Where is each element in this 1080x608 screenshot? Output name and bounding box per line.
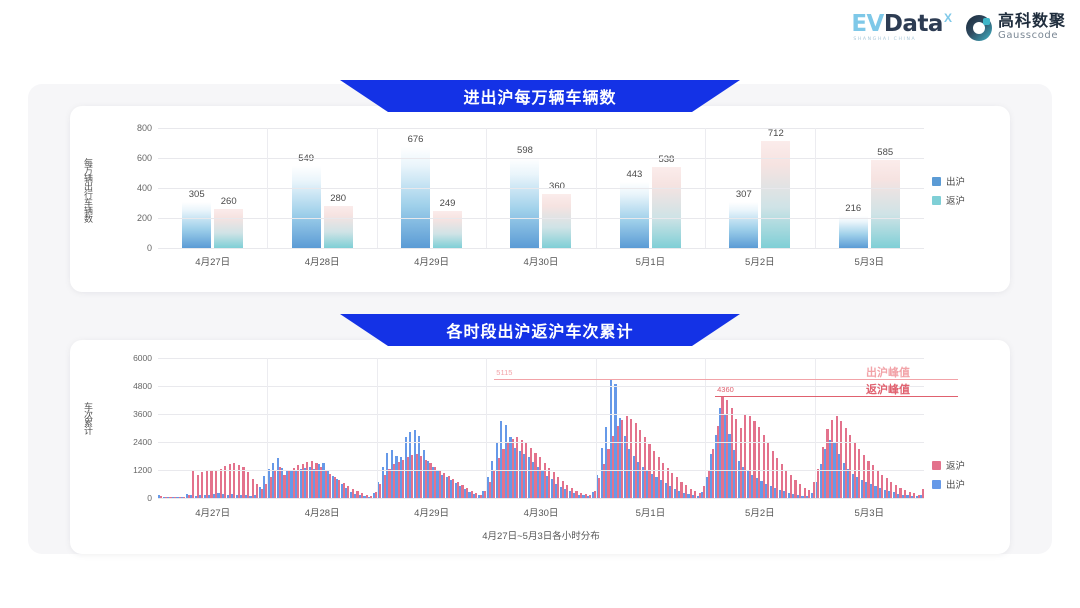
chart1-category-separator (486, 128, 487, 248)
evdata-logo-ev: EV (851, 13, 884, 36)
chart2-y-tick: 4800 (133, 381, 152, 391)
chart2-gridline: 0 (158, 498, 924, 499)
chart2-gridline: 1200 (158, 470, 924, 471)
chart1-category-separator (815, 128, 816, 248)
chart1-legend-item[interactable]: 出沪 (932, 174, 965, 188)
chart1-bar-out: 307 (729, 202, 758, 248)
chart2-x-tick: 5月2日 (745, 505, 775, 519)
logo-group: EV Data X SHANGHAI CHINA 高科数聚 Gausscode (851, 13, 1066, 43)
chart1-title-banner: 进出沪每万辆车辆数 (340, 80, 740, 112)
chart1-plot-area: 3052604月27日5492804月28日6762494月29日5983604… (158, 128, 924, 248)
chart1-x-tick: 4月27日 (158, 254, 267, 268)
chart1-category-separator (267, 128, 268, 248)
chart2-peak-reference-line: 5115出沪峰值 (494, 379, 958, 380)
chart2-y-tick: 3600 (133, 409, 152, 419)
chart1-category-separator (705, 128, 706, 248)
chart2-gridline: 3600 (158, 414, 924, 415)
chart1-legend-swatch (932, 177, 941, 186)
chart1-bar-value: 280 (330, 193, 346, 204)
chart1-bar-value: 307 (736, 189, 752, 200)
gausscode-logo-cn: 高科数聚 (998, 14, 1066, 31)
gausscode-mark-icon (966, 15, 992, 41)
gausscode-wordmark: 高科数聚 Gausscode (998, 14, 1066, 41)
chart1-bar-value: 216 (845, 203, 861, 214)
chart2-peak-label: 返沪峰值 (866, 381, 910, 397)
chart1-bar-back: 280 (324, 206, 353, 248)
chart2-y-tick: 1200 (133, 465, 152, 475)
chart1-bar-value: 598 (517, 145, 533, 156)
chart1-bar-out: 216 (839, 216, 868, 248)
chart2-legend-item[interactable]: 出沪 (932, 477, 965, 491)
chart1-category-separator (596, 128, 597, 248)
chart2-legend-swatch (932, 461, 941, 470)
chart1-bar-value: 676 (408, 134, 424, 145)
chart2-peak-value: 5115 (496, 368, 512, 377)
evdata-logo-subtitle: SHANGHAI CHINA (853, 38, 916, 43)
chart1-y-tick: 600 (137, 153, 152, 163)
chart1-x-tick: 5月3日 (815, 254, 924, 268)
chart2-legend: 返沪出沪 (932, 458, 965, 496)
chart1-gridline: 800 (158, 128, 924, 129)
chart1-bar-back: 360 (542, 194, 571, 248)
chart1-y-tick: 200 (137, 213, 152, 223)
chart2-y-tick: 2400 (133, 437, 152, 447)
chart1-x-tick: 4月30日 (486, 254, 595, 268)
chart2-y-tick: 6000 (133, 353, 152, 363)
chart2-x-tick: 5月1日 (636, 505, 666, 519)
daily-bar-chart: 每万辆出行车辆数 3052604月27日5492804月28日6762494月2… (70, 106, 1010, 292)
chart2-day-separator (267, 358, 268, 498)
chart1-legend-label: 返沪 (946, 193, 965, 207)
evdata-wordmark: EV Data X (851, 13, 952, 36)
chart1-x-tick: 4月28日 (267, 254, 376, 268)
chart1-bar-out: 676 (401, 147, 430, 248)
chart1-bar-back: 260 (214, 209, 243, 248)
chart2-x-tick: 4月28日 (305, 505, 340, 519)
chart1-bar-value: 538 (658, 154, 674, 165)
chart1-bar-out: 549 (292, 166, 321, 248)
evdata-logo: EV Data X SHANGHAI CHINA (851, 13, 952, 43)
chart1-bar-value: 249 (440, 198, 456, 209)
chart1-bar-back: 249 (433, 211, 462, 248)
chart2-legend-label: 返沪 (946, 458, 965, 472)
gausscode-logo: 高科数聚 Gausscode (966, 14, 1066, 41)
chart2-legend-swatch (932, 480, 941, 489)
chart1-bar-value: 305 (189, 189, 205, 200)
chart1-legend-item[interactable]: 返沪 (932, 193, 965, 207)
chart1-y-tick: 800 (137, 123, 152, 133)
chart2-legend-label: 出沪 (946, 477, 965, 491)
evdata-logo-data: Data (884, 13, 943, 36)
chart1-x-tick: 5月2日 (705, 254, 814, 268)
chart1-gridline: 200 (158, 218, 924, 219)
chart2-gridline: 2400 (158, 442, 924, 443)
chart2-y-tick: 0 (147, 493, 152, 503)
chart1-bar-out: 443 (620, 182, 649, 248)
chart2-y-axis-label: 车次累计 (82, 402, 95, 434)
gausscode-logo-en: Gausscode (998, 31, 1066, 42)
chart1-y-axis-label: 每万辆出行车辆数 (82, 158, 95, 222)
chart1-bar-value: 360 (549, 181, 565, 192)
chart1-gridline: 400 (158, 188, 924, 189)
chart1-bar-value: 712 (768, 128, 784, 139)
chart1-bar-value: 260 (221, 196, 237, 207)
chart2-legend-item[interactable]: 返沪 (932, 458, 965, 472)
chart2-title-banner: 各时段出沪返沪车次累计 (340, 314, 740, 346)
chart1-bar-value: 443 (626, 169, 642, 180)
evdata-logo-superscript: X (944, 12, 952, 24)
chart2-plot-area: 0120024003600480060004月27日4月28日4月29日4月30… (158, 358, 924, 498)
chart1-category-separator (377, 128, 378, 248)
hourly-bar-chart: 车次累计 0120024003600480060004月27日4月28日4月29… (70, 340, 1010, 554)
chart1-x-tick: 4月29日 (377, 254, 486, 268)
chart1-bar-back: 585 (871, 160, 900, 248)
chart2-peak-label: 出沪峰值 (866, 364, 910, 380)
chart1-y-tick: 0 (147, 243, 152, 253)
chart1-gridline: 600 (158, 158, 924, 159)
chart1-bar-out: 598 (510, 158, 539, 248)
chart2-gridline: 4800 (158, 386, 924, 387)
chart2-x-tick: 5月3日 (854, 505, 884, 519)
chart2-x-axis-caption: 4月27日~5月3日各小时分布 (158, 528, 924, 542)
chart1-x-tick: 5月1日 (596, 254, 705, 268)
page-header: EV Data X SHANGHAI CHINA 高科数聚 Gausscode (0, 0, 1080, 62)
chart2-peak-reference-line: 4360返沪峰值 (715, 396, 958, 397)
chart2-x-tick: 4月30日 (524, 505, 559, 519)
chart1-legend-swatch (932, 196, 941, 205)
chart1-bar-back: 538 (652, 167, 681, 248)
chart2-bar-back (922, 489, 924, 498)
chart2-peak-value: 4360 (717, 385, 734, 394)
chart1-bar-out: 305 (182, 202, 211, 248)
chart2-day-separator (486, 358, 487, 498)
chart1-legend: 出沪返沪 (932, 174, 965, 212)
chart2-x-tick: 4月27日 (195, 505, 230, 519)
chart1-y-tick: 400 (137, 183, 152, 193)
chart1-legend-label: 出沪 (946, 174, 965, 188)
chart2-gridline: 6000 (158, 358, 924, 359)
chart1-bar-value: 585 (877, 147, 893, 158)
chart1-gridline: 0 (158, 248, 924, 249)
chart2-x-tick: 4月29日 (414, 505, 449, 519)
chart2-day-separator (377, 358, 378, 498)
